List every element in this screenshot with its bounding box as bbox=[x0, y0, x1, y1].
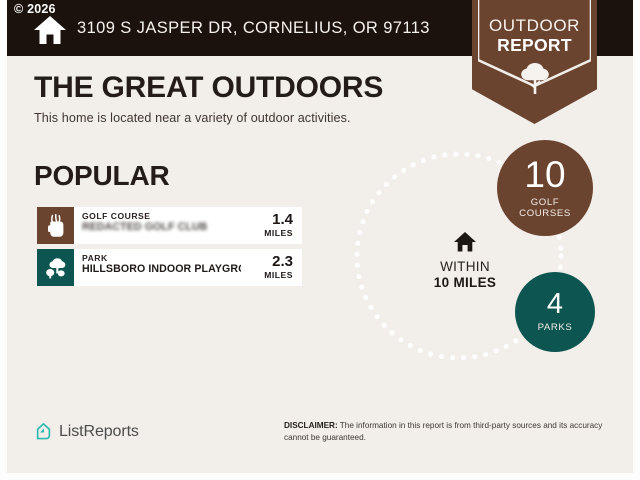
disclaimer: DISCLAIMER: The information in this repo… bbox=[284, 420, 614, 444]
badge-title-line2: REPORT bbox=[472, 35, 597, 56]
stat-circle-parks: 4 PARKS bbox=[515, 272, 595, 352]
outdoor-report-badge: OUTDOOR REPORT bbox=[472, 0, 597, 124]
distance-unit: MILES bbox=[264, 270, 293, 280]
place-text: GOLF COURSE REDACTED GOLF CLUB bbox=[74, 207, 241, 244]
within-radius-block: WITHIN 10 MILES bbox=[413, 231, 517, 291]
place-name: REDACTED GOLF CLUB bbox=[82, 221, 241, 234]
property-address: 3109 S JASPER DR, CORNELIUS, OR 97113 bbox=[77, 19, 430, 38]
disclaimer-label: DISCLAIMER: bbox=[284, 421, 338, 430]
place-distance: 1.4 MILES bbox=[241, 207, 302, 244]
stat-label-line1: GOLF bbox=[531, 197, 560, 208]
stat-label-line2: COURSES bbox=[519, 208, 571, 219]
park-trees-icon bbox=[44, 257, 68, 279]
brand-logo[interactable]: ListReports bbox=[34, 422, 139, 441]
place-distance: 2.3 MILES bbox=[241, 249, 302, 286]
page-title: THE GREAT OUTDOORS bbox=[34, 72, 383, 104]
stat-number: 10 bbox=[524, 157, 565, 192]
stat-circle-golf-courses: 10 GOLF COURSES bbox=[497, 140, 593, 236]
brand-name: ListReports bbox=[59, 423, 139, 441]
place-name: HILLSBORO INDOOR PLAYGROUND bbox=[82, 263, 241, 276]
page-subtitle: This home is located near a variety of o… bbox=[34, 111, 383, 125]
copyright-watermark: © 2026 bbox=[14, 2, 56, 16]
distance-value: 1.4 bbox=[272, 212, 293, 228]
home-icon bbox=[453, 231, 477, 253]
place-icon-container bbox=[37, 207, 74, 244]
place-text: PARK HILLSBORO INDOOR PLAYGROUND bbox=[74, 249, 241, 286]
golf-bag-icon bbox=[45, 214, 67, 238]
place-category: PARK bbox=[82, 253, 241, 263]
outdoor-report-page: © 2026 3109 S JASPER DR, CORNELIUS, OR 9… bbox=[0, 0, 640, 480]
outdoor-stats-infographic: WITHIN 10 MILES 10 GOLF COURSES 4 PARKS bbox=[347, 140, 627, 370]
place-category: GOLF COURSE bbox=[82, 211, 241, 221]
within-label: WITHIN bbox=[413, 259, 517, 275]
title-block: THE GREAT OUTDOORS This home is located … bbox=[34, 72, 383, 125]
place-icon-container bbox=[37, 249, 74, 286]
stat-label: GOLF COURSES bbox=[519, 197, 571, 219]
stat-number: 4 bbox=[547, 291, 563, 319]
home-icon bbox=[33, 14, 67, 46]
footer: ListReports DISCLAIMER: The information … bbox=[7, 414, 633, 466]
popular-heading: POPULAR bbox=[34, 160, 170, 192]
tree-icon bbox=[520, 62, 550, 95]
list-item[interactable]: PARK HILLSBORO INDOOR PLAYGROUND 2.3 MIL… bbox=[37, 249, 302, 286]
within-value: 10 MILES bbox=[413, 275, 517, 291]
distance-unit: MILES bbox=[264, 228, 293, 238]
list-item[interactable]: GOLF COURSE REDACTED GOLF CLUB 1.4 MILES bbox=[37, 207, 302, 244]
distance-value: 2.3 bbox=[272, 254, 293, 270]
popular-places-list: GOLF COURSE REDACTED GOLF CLUB 1.4 MILES… bbox=[37, 207, 302, 291]
badge-title-line1: OUTDOOR bbox=[472, 16, 597, 36]
listreports-house-logo-icon bbox=[34, 422, 53, 441]
stat-label: PARKS bbox=[538, 322, 573, 333]
